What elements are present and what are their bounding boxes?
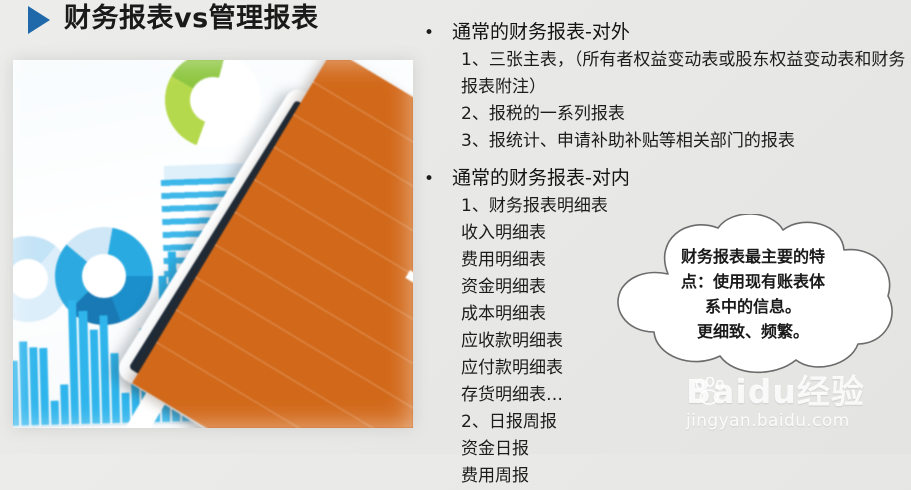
bullet-section: •通常的财务报表-对外1、三张主表，（所有者权益变动表或股东权益变动表和财务报表…: [418, 18, 908, 164]
document-dotted-line: [313, 81, 413, 252]
bar-chart-bar: [19, 342, 29, 426]
bullet-heading: 通常的财务报表-对外: [452, 18, 630, 47]
cloud-callout: 财务报表最主要的特点：使用现有账表体系中的信息。更细致、频繁。: [606, 214, 902, 380]
document-dotted-line: [254, 179, 413, 350]
bullet-heading: 通常的财务报表-对内: [452, 164, 630, 193]
bar-chart-bar: [39, 348, 49, 425]
slide: 财务报表vs管理报表 •通常的财务报表-对外1、三张主表，（所有者权益变动表或股…: [0, 0, 911, 454]
list-item: 3、报统计、申请补助补贴等相关部门的报表: [461, 128, 908, 155]
cloud-text-line: 财务报表最主要的特: [644, 244, 862, 269]
photo-content: [13, 60, 413, 428]
cloud-text-line: 点：使用现有账表体: [644, 269, 862, 294]
bullet-heading-row: •通常的财务报表-对外: [418, 18, 908, 47]
slide-title-row: 财务报表vs管理报表: [28, 2, 319, 36]
list-item: 资金日报: [461, 436, 908, 463]
bar-chart-bar: [61, 384, 70, 425]
list-item: 费用周报: [461, 463, 908, 490]
bar-chart-bar: [13, 361, 19, 426]
bar-chart-bar: [29, 347, 39, 425]
bar-chart-bar: [89, 329, 100, 424]
play-triangle-icon: [28, 6, 50, 34]
bullet-sub-list: 1、三张主表，（所有者权益变动表或股东权益变动表和财务报表附注）2、报税的一系列…: [418, 47, 908, 155]
bar-chart-bar: [99, 315, 110, 423]
list-item: 2、日报周报: [461, 409, 908, 436]
document-dotted-line: [235, 212, 413, 383]
cloud-callout-text: 财务报表最主要的特点：使用现有账表体系中的信息。更细致、频繁。: [644, 244, 862, 344]
cloud-text-line: 系中的信息。: [644, 294, 862, 319]
section-gap: [418, 155, 908, 164]
page-title: 财务报表vs管理报表: [64, 2, 319, 36]
bar-chart-bar: [121, 393, 130, 423]
list-item: 存货明细表…: [461, 382, 908, 409]
document-dotted-line: [176, 309, 413, 428]
bar-chart-bar: [79, 311, 90, 425]
bar-chart-bar: [51, 400, 60, 424]
bullet-dot-icon: •: [418, 166, 452, 193]
document-white-bar: [405, 270, 413, 355]
list-item: 2、报税的一系列报表: [461, 101, 908, 128]
list-item: 1、三张主表，（所有者权益变动表或股东权益变动表和财务报表附注）: [461, 47, 908, 101]
bullet-dot-icon: •: [418, 20, 452, 47]
bullet-heading-row: •通常的财务报表-对内: [418, 164, 908, 193]
cloud-text-line: 更细致、频繁。: [644, 319, 862, 344]
business-charts-photo: [13, 60, 413, 428]
